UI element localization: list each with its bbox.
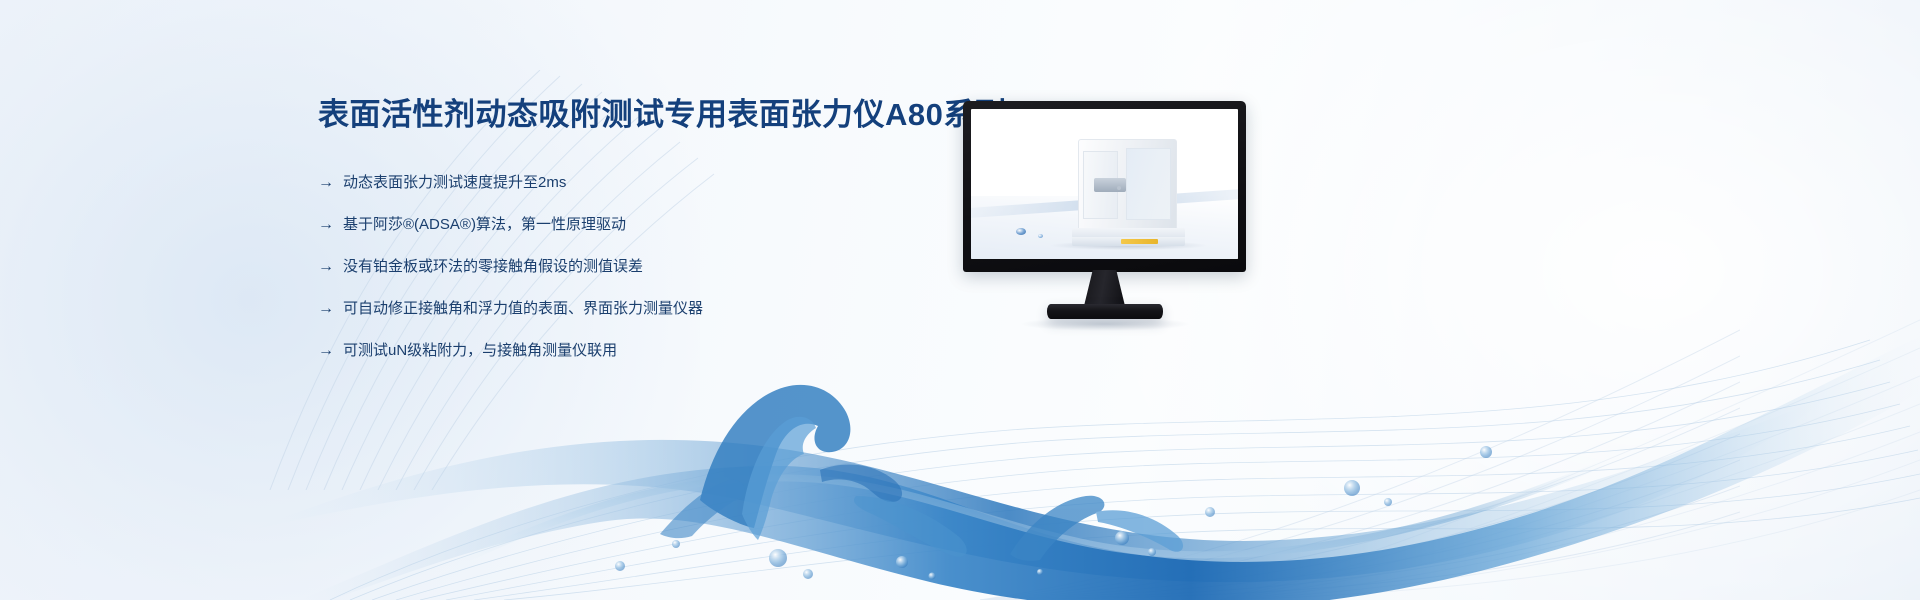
feature-label: 没有铂金板或环法的零接触角假设的测值误差 bbox=[343, 256, 643, 278]
feature-item-4: → 可自动修正接触角和浮力值的表面、界面张力测量仪器 bbox=[318, 298, 1018, 320]
water-splash-secondary bbox=[1010, 496, 1183, 561]
monitor-mockup bbox=[963, 101, 1246, 324]
monitor-screen bbox=[971, 109, 1238, 259]
arrow-right-icon: → bbox=[318, 256, 334, 278]
feature-label: 动态表面张力测试速度提升至2ms bbox=[343, 172, 566, 194]
feature-label: 可自动修正接触角和浮力值的表面、界面张力测量仪器 bbox=[343, 298, 703, 320]
arrow-right-icon: → bbox=[318, 172, 334, 194]
instrument-sample-plate bbox=[1094, 178, 1126, 192]
monitor-base-shadow bbox=[1020, 317, 1190, 331]
radial-line-fan-pattern-far-right bbox=[1220, 300, 1920, 600]
feature-item-3: → 没有铂金板或环法的零接触角假设的测值误差 bbox=[318, 256, 1018, 278]
feature-label: 可测试uN级粘附力，与接触角测量仪联用 bbox=[343, 340, 617, 362]
feature-item-2: → 基于阿莎®(ADSA®)算法，第一性原理驱动 bbox=[318, 214, 1018, 236]
monitor-bezel bbox=[963, 101, 1246, 272]
arrow-right-icon: → bbox=[318, 298, 334, 320]
arrow-right-icon: → bbox=[318, 340, 334, 362]
feature-item-5: → 可测试uN级粘附力，与接触角测量仪联用 bbox=[318, 340, 1018, 362]
water-splash-crown bbox=[660, 385, 967, 557]
feature-label: 基于阿莎®(ADSA®)算法，第一性原理驱动 bbox=[343, 214, 626, 236]
water-droplet-small-icon bbox=[1038, 234, 1043, 238]
page-title: 表面活性剂动态吸附测试专用表面张力仪A80系列 bbox=[318, 96, 1018, 134]
instrument-display-readout bbox=[1121, 239, 1158, 244]
product-banner: 表面活性剂动态吸附测试专用表面张力仪A80系列 → 动态表面张力测试速度提升至2… bbox=[0, 0, 1920, 600]
wave-crest-highlight bbox=[420, 456, 1620, 580]
banner-text-block: 表面活性剂动态吸附测试专用表面张力仪A80系列 → 动态表面张力测试速度提升至2… bbox=[318, 96, 1018, 382]
water-droplets bbox=[615, 446, 1492, 580]
feature-list: → 动态表面张力测试速度提升至2ms → 基于阿莎®(ADSA®)算法，第一性原… bbox=[318, 172, 1018, 362]
wave-back-ribbon bbox=[250, 396, 1830, 582]
instrument-glass-chamber bbox=[1126, 148, 1171, 220]
instrument-knob bbox=[1117, 186, 1121, 190]
arrow-right-icon: → bbox=[318, 214, 334, 236]
feature-item-1: → 动态表面张力测试速度提升至2ms bbox=[318, 172, 1018, 194]
